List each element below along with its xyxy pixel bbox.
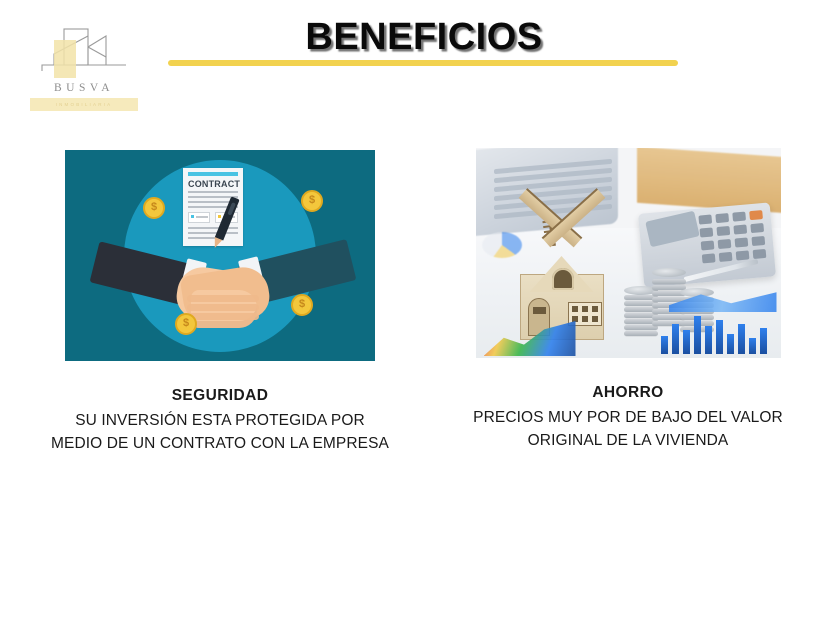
logo-building-svg: [32, 26, 136, 82]
benefit-card-seguridad: CONTRACT: [42, 148, 398, 456]
slide-beneficios: BUSVA INMOBILIARIA BENEFICIOS CONTRACT: [0, 0, 840, 630]
page-title: BENEFICIOS: [168, 16, 680, 59]
benefit-body: PRECIOS MUY POR DE BAJO DEL VALOR ORIGIN…: [450, 407, 806, 453]
dollar-coin-icon: $: [291, 294, 313, 316]
dollar-coin-icon: $: [175, 313, 197, 335]
benefit-body: SU INVERSIÓN ESTA PROTEGIDA POR MEDIO DE…: [42, 410, 398, 456]
document-title: CONTRACT: [188, 179, 238, 189]
benefit-card-ahorro: AHORRO PRECIOS MUY POR DE BAJO DEL VALOR…: [450, 148, 806, 453]
benefit-caption: SEGURIDAD SU INVERSIÓN ESTA PROTEGIDA PO…: [42, 387, 398, 456]
photo-scene: [476, 148, 781, 358]
house-attic-window: [552, 268, 574, 290]
wooden-house-model: [508, 222, 616, 340]
handshake-contract-illustration: CONTRACT: [65, 150, 375, 361]
house-coins-calculator-photo: [476, 148, 781, 358]
brand-logo: BUSVA INMOBILIARIA: [24, 26, 144, 110]
logo-wordmark: BUSVA: [24, 82, 144, 94]
calculator-screen: [645, 211, 700, 248]
dollar-coin-icon: $: [143, 197, 165, 219]
building-outline-icon: [32, 26, 136, 82]
benefit-heading: SEGURIDAD: [42, 387, 398, 405]
document-header-bar: [188, 172, 238, 176]
benefit-caption: AHORRO PRECIOS MUY POR DE BAJO DEL VALOR…: [450, 384, 806, 453]
benefit-heading: AHORRO: [450, 384, 806, 402]
bar-chart-graphic: [661, 310, 773, 354]
title-underline-rule: [168, 60, 678, 66]
logo-gold-swatch: [54, 40, 76, 78]
dollar-coin-icon: $: [301, 190, 323, 212]
handshake-fingers: [187, 293, 259, 327]
logo-tagline: INMOBILIARIA: [30, 98, 138, 111]
